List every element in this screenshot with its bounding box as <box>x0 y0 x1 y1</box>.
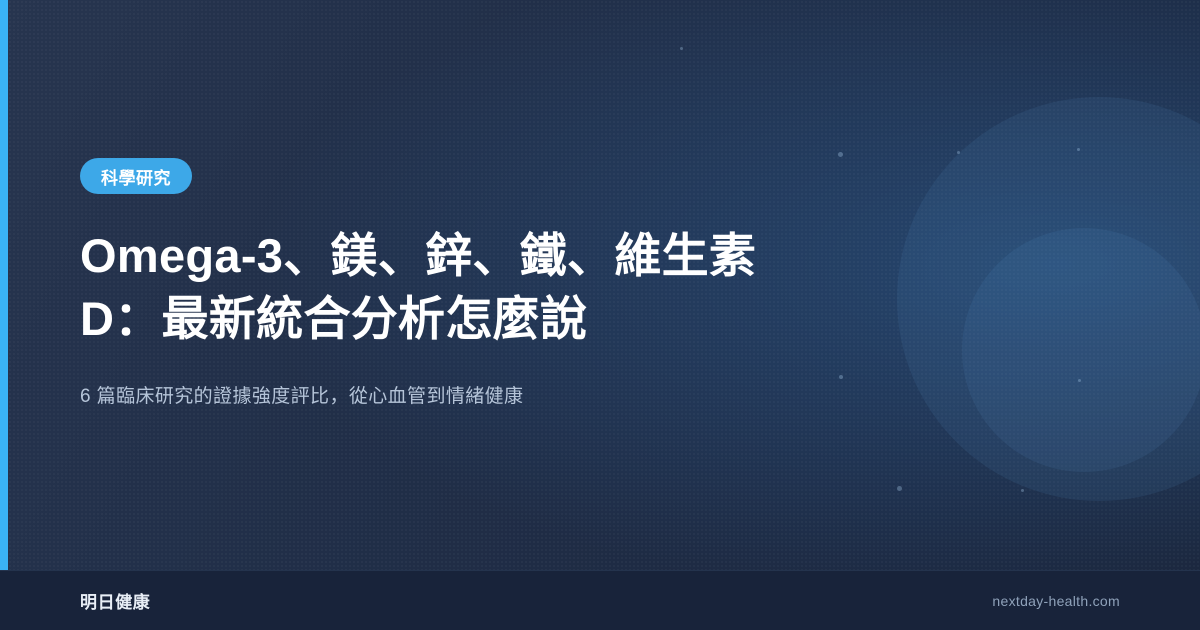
left-accent-bar <box>0 0 8 570</box>
speck-dot <box>1078 379 1081 382</box>
footer-brand-name: 明日健康 <box>80 588 150 613</box>
decorative-circle-inner <box>962 228 1200 472</box>
footer-inner: 明日健康 nextday-health.com <box>80 571 1120 630</box>
speck-dot <box>1077 148 1080 151</box>
card-content: 科學研究 Omega-3、鎂、鋅、鐵、維生素 D：最新統合分析怎麼說 6 篇臨床… <box>80 0 840 570</box>
speck-dot <box>957 151 960 154</box>
category-badge: 科學研究 <box>80 158 192 194</box>
card-footer: 明日健康 nextday-health.com <box>0 570 1200 630</box>
speck-dot <box>1021 489 1024 492</box>
footer-site-url: nextday-health.com <box>992 593 1120 609</box>
og-social-card: 科學研究 Omega-3、鎂、鋅、鐵、維生素 D：最新統合分析怎麼說 6 篇臨床… <box>0 0 1200 630</box>
page-title: Omega-3、鎂、鋅、鐵、維生素 D：最新統合分析怎麼說 <box>80 225 760 350</box>
page-subtitle: 6 篇臨床研究的證據強度評比，從心血管到情緒健康 <box>80 383 840 412</box>
speck-dot <box>897 486 902 491</box>
